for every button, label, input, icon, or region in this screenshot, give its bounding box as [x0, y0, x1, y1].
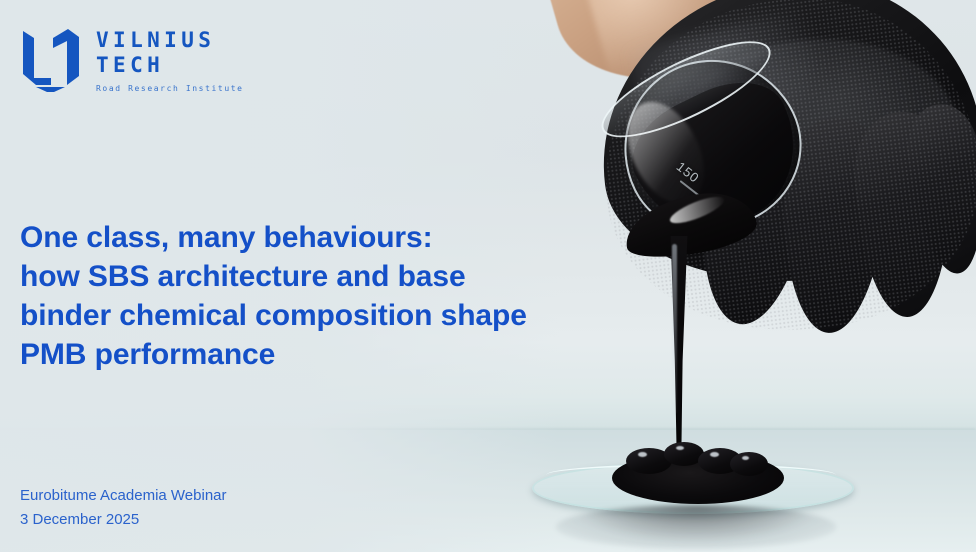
footer-date: 3 December 2025	[20, 508, 227, 532]
bitumen-blob-highlight	[710, 452, 719, 457]
bitumen-blob-highlight	[676, 446, 684, 450]
slide-title: One class, many behaviours: how SBS arch…	[20, 218, 620, 374]
vilnius-tech-u-mark	[20, 26, 82, 92]
bitumen-stream-highlight	[672, 244, 677, 414]
bitumen-blob-highlight	[638, 452, 647, 457]
footer-event: Eurobitume Academia Webinar	[20, 484, 227, 508]
logo-word-tech: TECH	[96, 53, 244, 78]
presentation-slide: 150 VILNIUS TECH Road	[0, 0, 976, 552]
logo-subtitle: Road Research Institute	[96, 84, 244, 93]
title-line: One class, many behaviours:	[20, 218, 620, 257]
bitumen-blob	[730, 452, 768, 476]
title-line: PMB performance	[20, 335, 620, 374]
slide-footer: Eurobitume Academia Webinar 3 December 2…	[20, 484, 227, 532]
logo-word-vilnius: VILNIUS	[96, 28, 244, 53]
logo-wordmark: VILNIUS TECH Road Research Institute	[96, 26, 244, 93]
tabletop-reflection	[556, 505, 836, 549]
title-line: how SBS architecture and base	[20, 257, 620, 296]
bitumen-blob-highlight	[742, 456, 749, 460]
vilnius-tech-logo: VILNIUS TECH Road Research Institute	[20, 26, 244, 93]
title-line: binder chemical composition shape	[20, 296, 620, 335]
